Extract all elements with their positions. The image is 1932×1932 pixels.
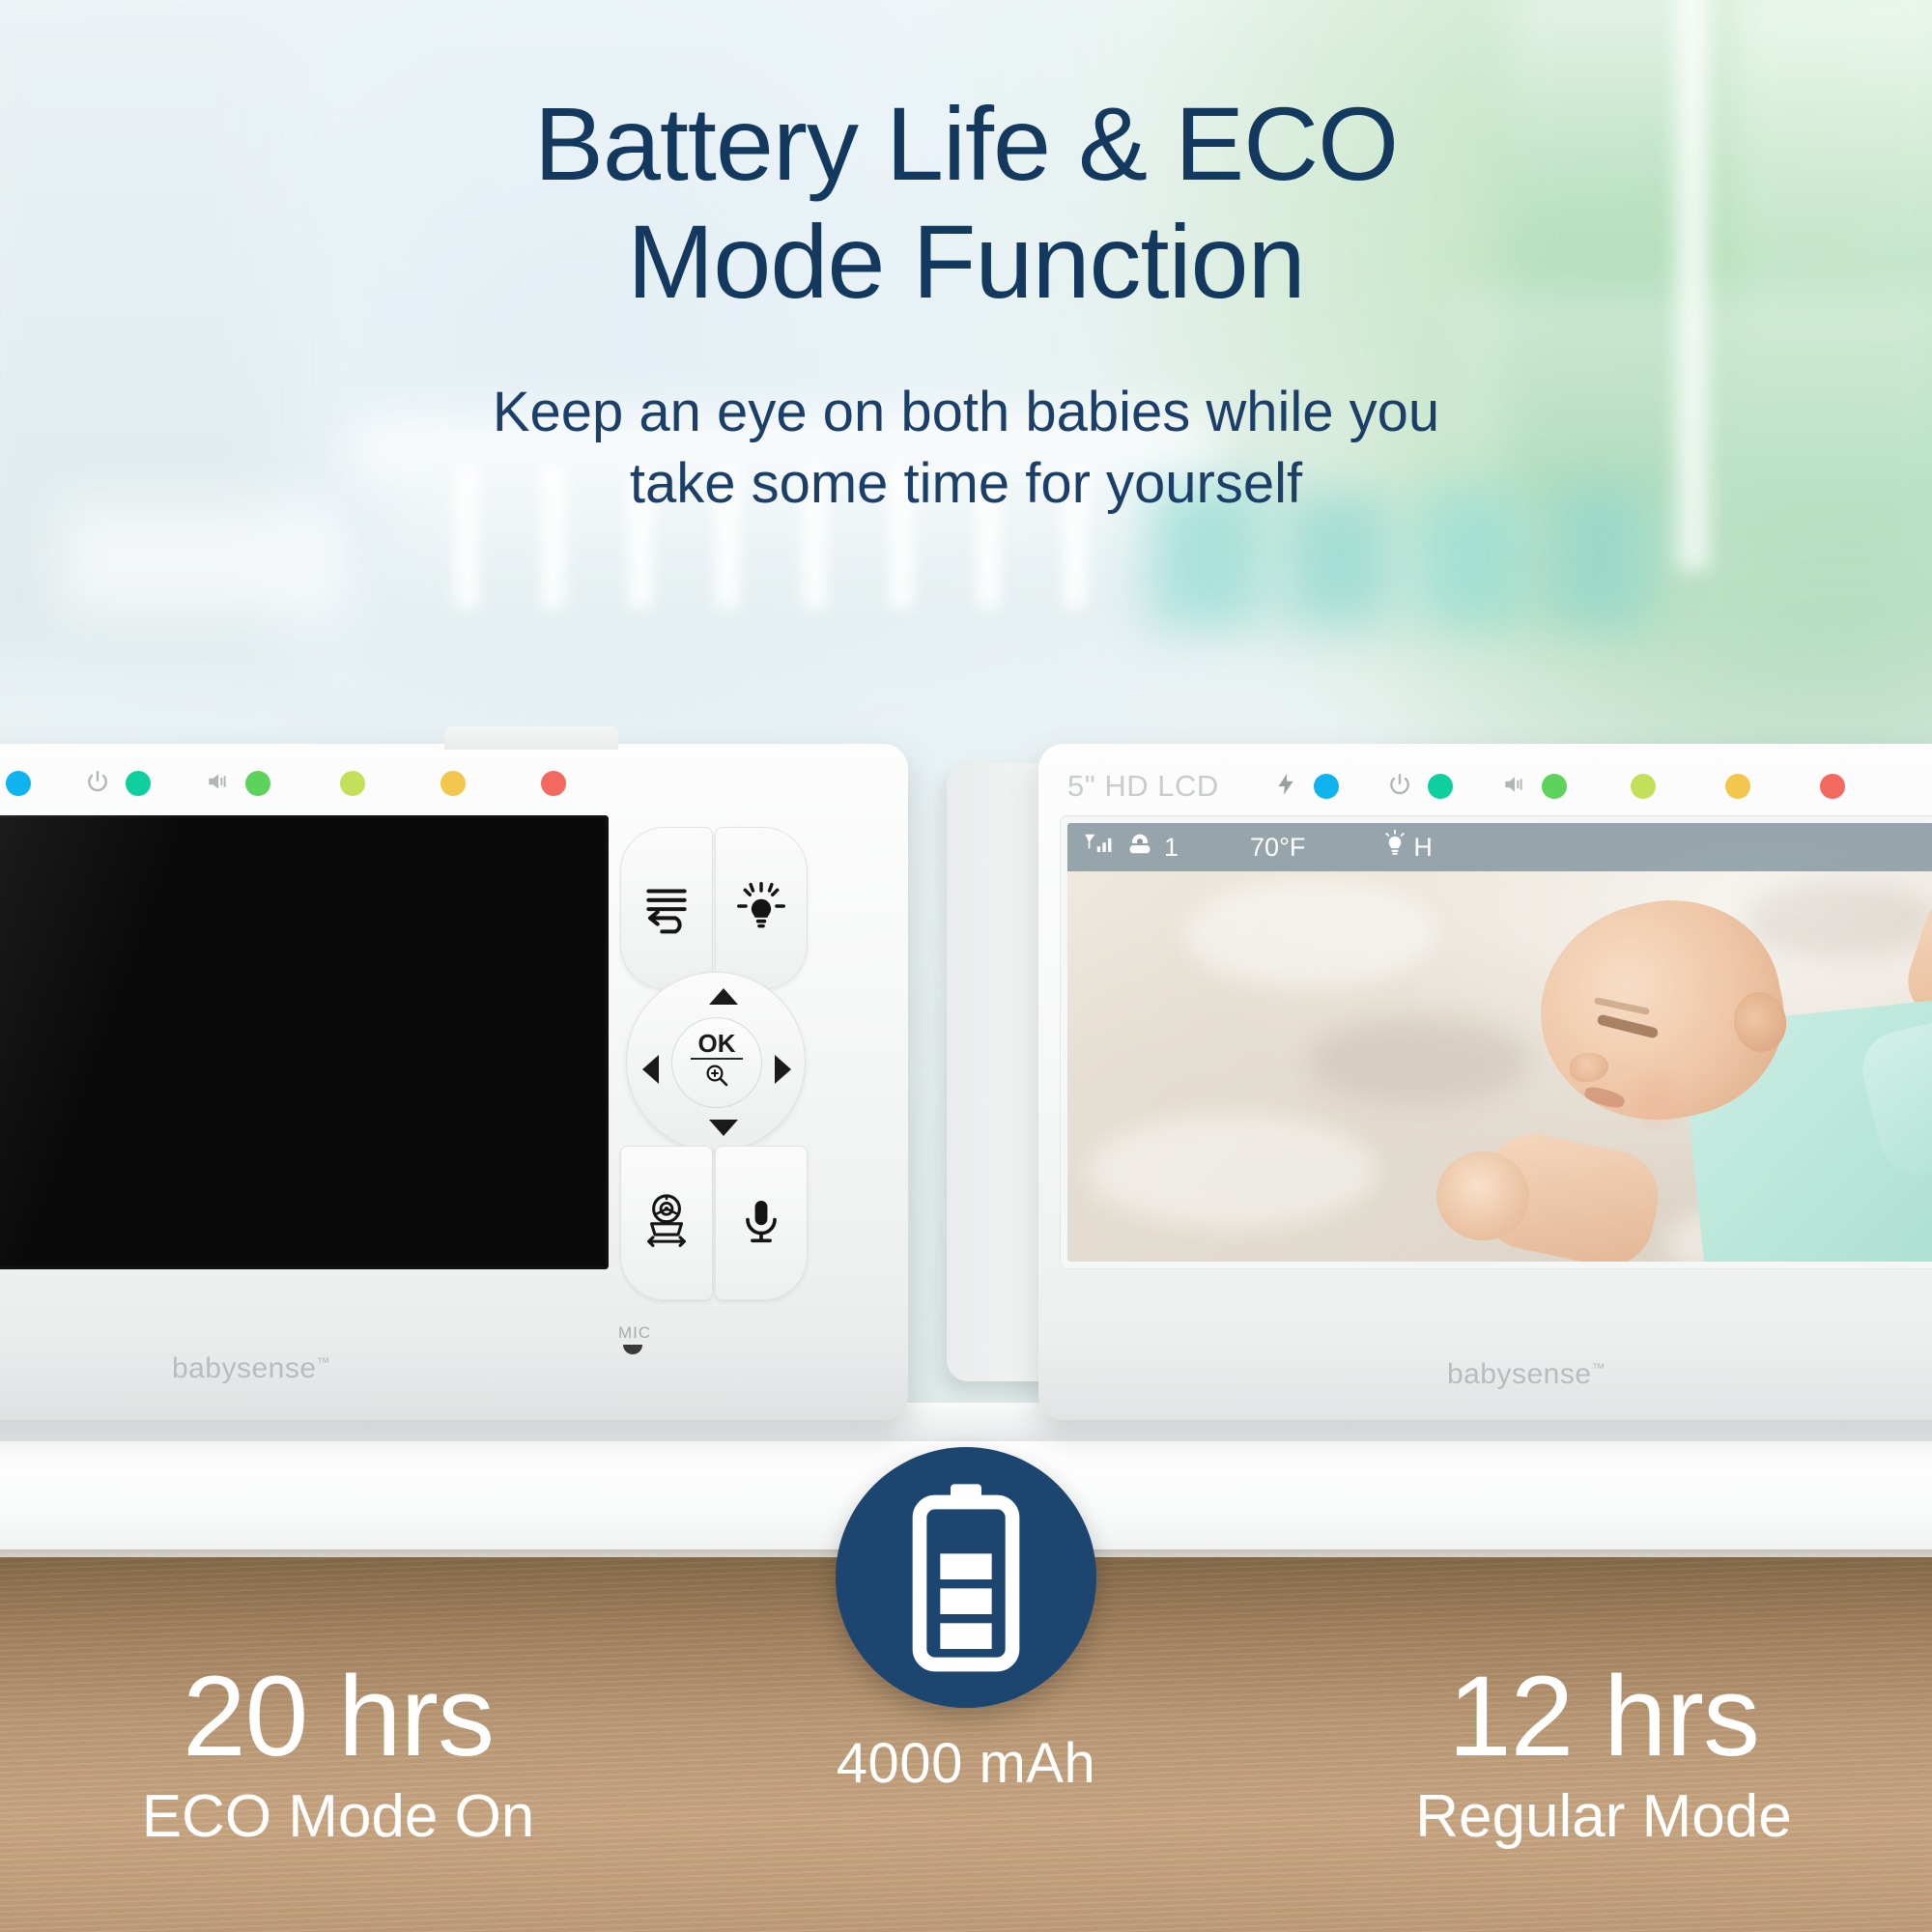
right-monitor-top-bar: 5" HD LCD xyxy=(1067,761,1932,811)
level-led-1 xyxy=(340,771,365,796)
signal-bars-icon xyxy=(1083,831,1116,865)
talk-button[interactable] xyxy=(715,1146,808,1300)
battery-badge xyxy=(836,1447,1096,1708)
left-monitor-led-bar xyxy=(0,757,908,810)
ok-zoom-button[interactable]: OK xyxy=(671,1017,762,1108)
right-button[interactable] xyxy=(775,1055,791,1084)
regular-mode-hours: 12 hrs xyxy=(1285,1660,1922,1774)
regular-mode-label: Regular Mode xyxy=(1285,1781,1922,1852)
left-monitor-button-panel: OK xyxy=(618,827,811,1252)
battery-icon xyxy=(898,1479,1034,1677)
speaker-icon xyxy=(205,769,234,798)
level-led-1 xyxy=(1631,774,1656,799)
power-icon xyxy=(85,769,114,798)
menu-back-button[interactable] xyxy=(620,827,713,989)
charging-led xyxy=(6,771,31,796)
battery-capacity-label: 4000 mAh xyxy=(676,1731,1256,1796)
page-title-line1: Battery Life & ECO xyxy=(534,85,1398,202)
mic-label: MIC xyxy=(618,1323,651,1343)
right-monitor-brand: babysense™ xyxy=(1038,1358,1932,1391)
camera-pan-icon xyxy=(637,1191,696,1256)
camera-switch-button[interactable] xyxy=(620,1146,713,1300)
right-monitor-bezel: 1 70°F H xyxy=(1060,815,1932,1269)
power-led xyxy=(126,771,151,796)
brand-name: babysense xyxy=(172,1352,317,1384)
regular-mode-stat: 12 hrs Regular Mode xyxy=(1285,1660,1922,1852)
camera-feed-image xyxy=(1067,823,1932,1262)
left-monitor-device: OK xyxy=(0,744,908,1420)
microphone-icon xyxy=(734,1194,788,1253)
level-led-3 xyxy=(541,771,566,796)
sheet-fold xyxy=(1183,881,1435,987)
left-monitor-notch xyxy=(444,726,618,750)
sheet-shadow xyxy=(1309,1016,1531,1103)
speaker-icon xyxy=(1501,772,1530,801)
trademark: ™ xyxy=(1592,1360,1606,1376)
power-led xyxy=(1428,774,1453,799)
left-monitor-brand: babysense™ xyxy=(0,1352,618,1385)
camera-number: 1 xyxy=(1164,833,1179,863)
left-button[interactable] xyxy=(642,1055,659,1084)
level-led-2 xyxy=(1725,774,1750,799)
light-mode-label: H xyxy=(1413,833,1433,863)
lcd-size-label: 5" HD LCD xyxy=(1067,769,1219,804)
eco-mode-label: ECO Mode On xyxy=(19,1781,657,1852)
charging-led xyxy=(1314,774,1339,799)
direction-pad[interactable]: OK xyxy=(626,972,806,1151)
light-bulb-icon xyxy=(733,878,789,939)
left-monitor-screen-off[interactable] xyxy=(0,815,609,1269)
menu-back-icon xyxy=(637,876,696,941)
power-icon xyxy=(1387,772,1416,801)
sheet-fold xyxy=(1087,1113,1377,1229)
camera-icon xyxy=(1125,831,1154,865)
light-bulb-icon xyxy=(1382,830,1407,866)
baby-lower-hand xyxy=(1436,1151,1529,1240)
volume-led xyxy=(1542,774,1567,799)
brightness-button[interactable] xyxy=(715,827,808,989)
trademark: ™ xyxy=(317,1354,331,1370)
level-led-2 xyxy=(440,771,466,796)
sheet-shadow xyxy=(1744,881,1932,958)
temperature-reading: 70°F xyxy=(1250,833,1305,863)
ok-label: OK xyxy=(698,1031,736,1056)
right-monitor-device: 5" HD LCD xyxy=(1038,744,1932,1420)
brand-name: babysense xyxy=(1447,1358,1592,1390)
eco-mode-hours: 20 hrs xyxy=(19,1660,657,1774)
page-subtitle-line1: Keep an eye on both babies while you xyxy=(493,381,1439,443)
lcd-status-bar: 1 70°F H xyxy=(1067,823,1932,871)
right-monitor-screen[interactable]: 1 70°F H xyxy=(1067,823,1932,1262)
page-title-line2: Mode Function xyxy=(0,210,1932,314)
baby-cheek xyxy=(1613,1065,1696,1132)
level-led-3 xyxy=(1820,774,1845,799)
eco-mode-stat: 20 hrs ECO Mode On xyxy=(19,1660,657,1852)
volume-led xyxy=(245,771,270,796)
page-title: Battery Life & ECO Mode Function xyxy=(0,92,1932,314)
down-button[interactable] xyxy=(709,1120,738,1136)
page-subtitle-line2: take some time for yourself xyxy=(0,448,1932,520)
page-subtitle: Keep an eye on both babies while you tak… xyxy=(0,377,1932,520)
screen-glare xyxy=(0,815,278,1269)
lightning-bolt-icon xyxy=(1273,772,1302,801)
magnifier-icon xyxy=(702,1061,731,1094)
ok-divider xyxy=(691,1058,743,1060)
up-button[interactable] xyxy=(709,988,738,1005)
